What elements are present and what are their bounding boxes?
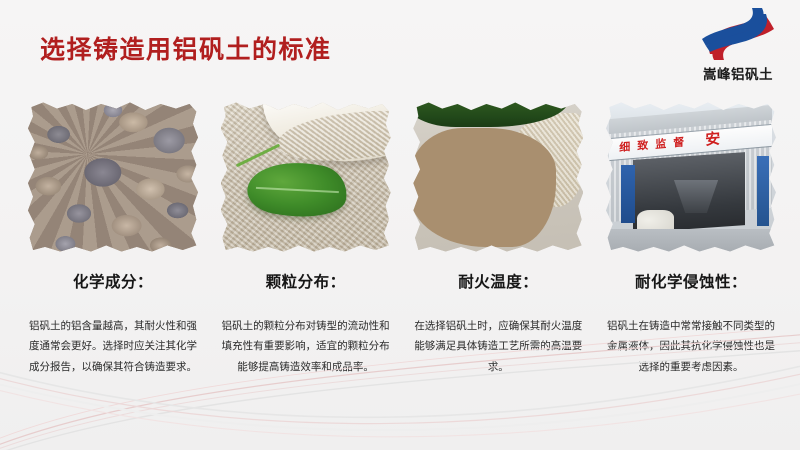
card-heading: 颗粒分布： [215, 270, 397, 292]
bauxite-granule-photo [413, 101, 583, 253]
banner-char-4: 督 [674, 138, 685, 150]
factory-building-photo: 细 致 监 督 安 [606, 101, 776, 253]
criteria-card-row: 化学成分： 铝矾土的铝含量越高，其耐火性和强度通常会更好。选择时应关注其化学成分… [22, 98, 782, 377]
criteria-card: 化学成分： 铝矾土的铝含量越高，其耐火性和强度通常会更好。选择时应关注其化学成分… [22, 98, 204, 377]
card-body-text: 铝矾土的铝含量越高，其耐火性和强度通常会更好。选择时应关注其化学成分报告，以确保… [22, 316, 204, 377]
slide-canvas: 选择铸造用铝矾土的标准 嵩峰铝矾土 化学成分： 铝矾土的铝含量越高，其耐火性和强… [0, 0, 800, 450]
criteria-card: 颗粒分布： 铝矾土的颗粒分布对铸型的流动性和填充性有重要影响，适宜的颗粒分布能够… [215, 98, 397, 377]
criteria-card: 耐火温度： 在选择铝矾土时，应确保其耐火温度能够满足具体铸造工艺所需的高温要求。 [407, 98, 589, 377]
card-body-text: 在选择铝矾土时，应确保其耐火温度能够满足具体铸造工艺所需的高温要求。 [407, 316, 589, 377]
green-leaf [244, 154, 350, 223]
card-photo-frame: 细 致 监 督 安 [600, 98, 782, 256]
leaf-stem [236, 144, 280, 168]
card-body-text: 铝矾土的颗粒分布对铸型的流动性和填充性有重要影响，适宜的颗粒分布能够提高铸造效率… [215, 316, 397, 377]
blue-pillar [757, 156, 769, 226]
company-logo: 嵩峰铝矾土 [684, 6, 792, 90]
logo-company-name: 嵩峰铝矾土 [684, 63, 792, 83]
logo-s-mark [700, 8, 776, 60]
criteria-card: 细 致 监 督 安 耐化学侵蚀性： 铝矾土在铸造中常常接触不同类型的金属液体，因… [600, 98, 782, 377]
card-heading: 化学成分： [22, 270, 204, 292]
page-title: 选择铸造用铝矾土的标准 [40, 30, 332, 66]
card-photo-frame [407, 98, 589, 256]
bauxite-rock-photo [28, 101, 198, 253]
granule-pile [413, 128, 556, 247]
blue-signboard [621, 165, 635, 223]
banner-char-2: 致 [638, 141, 649, 153]
card-body-text: 铝矾土在铸造中常常接触不同类型的金属液体，因此其抗化学侵蚀性也是选择的重要考虑因… [600, 316, 782, 377]
card-photo-frame [22, 98, 204, 256]
card-heading: 耐火温度： [407, 270, 589, 292]
banner-char-1: 细 [620, 143, 631, 155]
ground [606, 229, 776, 253]
card-heading: 耐化学侵蚀性： [600, 270, 782, 292]
card-photo-frame [215, 98, 397, 256]
banner-char-5: 安 [706, 133, 721, 149]
bauxite-powder-photo [221, 101, 391, 253]
banner-char-3: 监 [656, 139, 667, 151]
